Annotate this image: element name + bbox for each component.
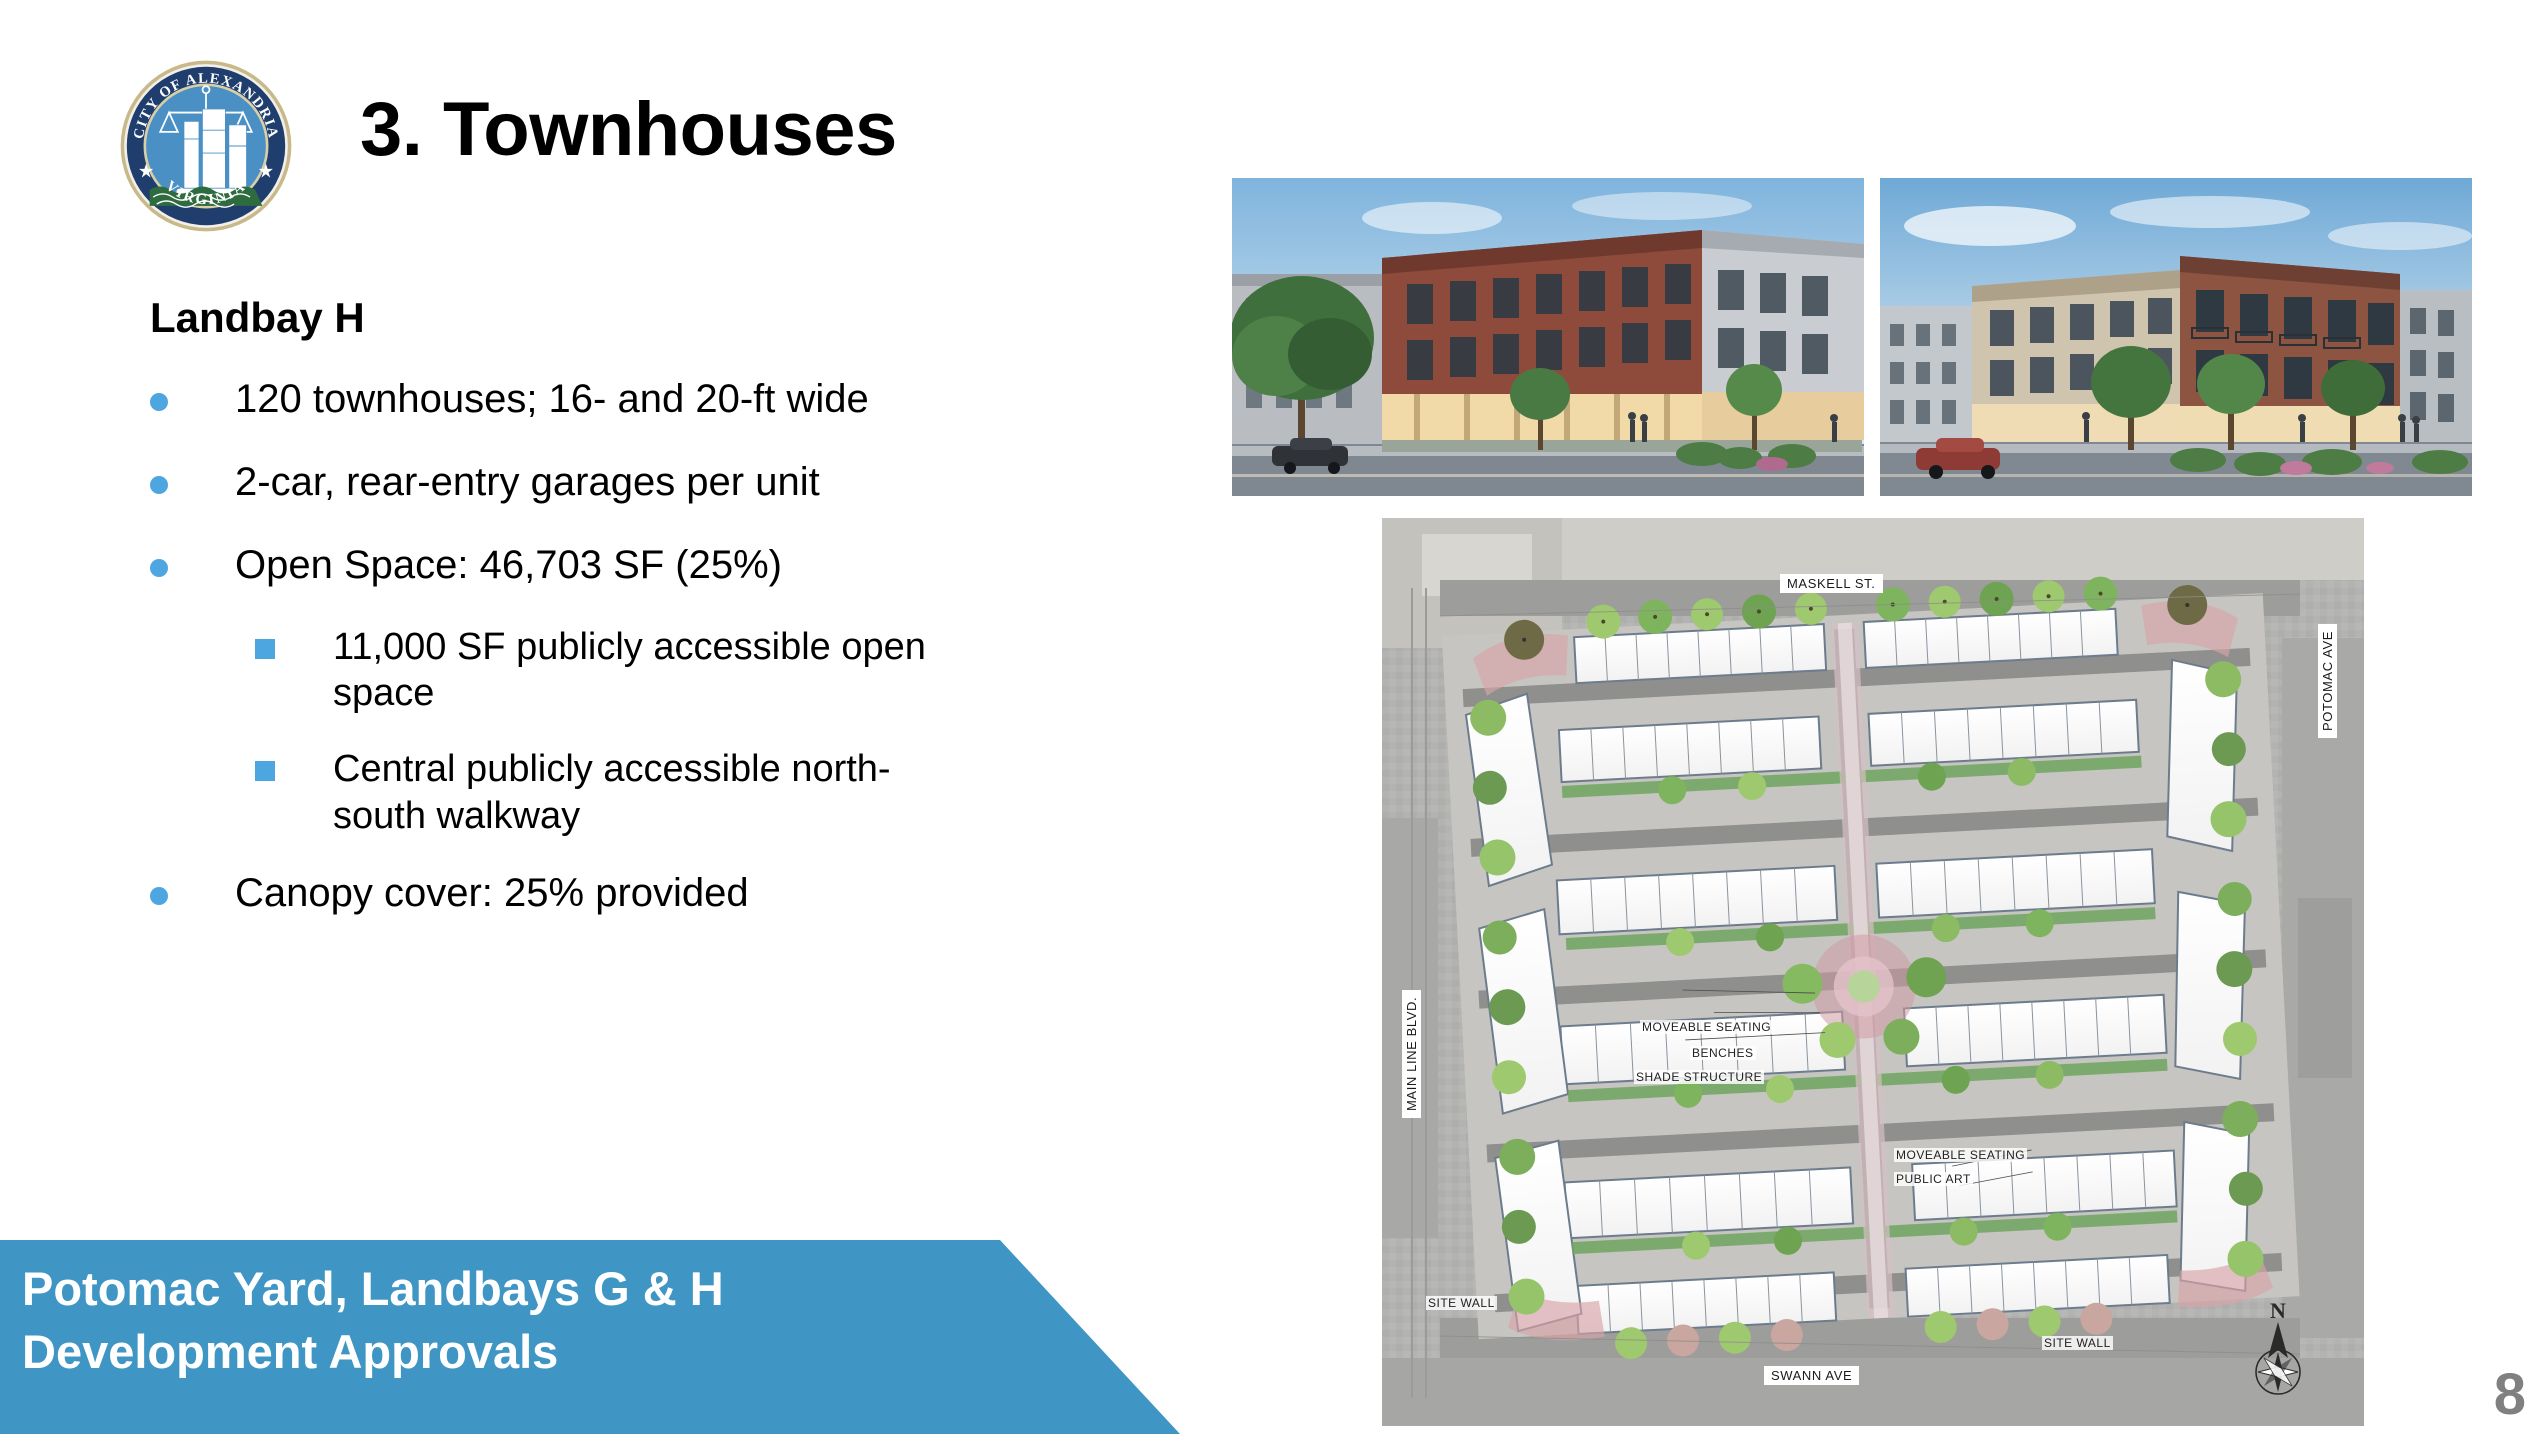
annotation-benches: BENCHES — [1690, 1046, 1756, 1060]
bullet-text: Canopy cover: 25% provided — [235, 869, 749, 918]
bullet-dot-icon — [150, 476, 168, 494]
bullet-text: 120 townhouses; 16- and 20-ft wide — [235, 375, 869, 424]
bullet-dot-icon — [150, 887, 168, 905]
bullet-text: 2-car, rear-entry garages per unit — [235, 458, 820, 507]
bullet-text: 11,000 SF publicly accessible open space — [333, 624, 973, 717]
list-item: 120 townhouses; 16- and 20-ft wide — [150, 375, 1220, 424]
compass-north-letter: N — [2270, 1298, 2286, 1323]
footer-banner-line1: Potomac Yard, Landbays G & H — [22, 1258, 724, 1321]
landbay-h-site-plan: MASKELL ST. SWANN AVE MAIN LINE BLVD. PO… — [1382, 518, 2364, 1426]
page-number: 8 — [2494, 1361, 2526, 1428]
list-item: 2-car, rear-entry garages per unit — [150, 458, 1220, 507]
list-item-sub: Central publicly accessible north-south … — [150, 746, 1220, 839]
bullet-square-icon — [255, 639, 275, 659]
bullet-square-icon — [255, 761, 275, 781]
street-label-main-line: MAIN LINE BLVD. — [1402, 990, 1421, 1118]
street-label-potomac: POTOMAC AVE — [2318, 624, 2337, 738]
bullet-dot-icon — [150, 559, 168, 577]
townhouse-rendering-left — [1232, 178, 1864, 496]
page-title: 3. Townhouses — [360, 92, 897, 168]
list-item: Open Space: 46,703 SF (25%) — [150, 541, 1220, 590]
content-body: Landbay H 120 townhouses; 16- and 20-ft … — [150, 295, 1220, 952]
list-item-sub: 11,000 SF publicly accessible open space — [150, 624, 1220, 717]
annotation-shade-structure: SHADE STRUCTURE — [1634, 1070, 1764, 1084]
annotation-site-wall-right: SITE WALL — [2042, 1336, 2113, 1350]
north-compass-icon: N — [2232, 1296, 2324, 1406]
street-label-swann: SWANN AVE — [1764, 1366, 1859, 1385]
bullet-text: Central publicly accessible north-south … — [333, 746, 943, 839]
footer-banner-text: Potomac Yard, Landbays G & H Development… — [22, 1258, 724, 1383]
annotation-public-art: PUBLIC ART — [1894, 1172, 1973, 1186]
footer-banner: Potomac Yard, Landbays G & H Development… — [0, 1240, 1180, 1434]
bullet-text: Open Space: 46,703 SF (25%) — [235, 541, 782, 590]
annotation-moveable-seating-south: MOVEABLE SEATING — [1894, 1148, 2027, 1162]
footer-banner-line2: Development Approvals — [22, 1321, 724, 1384]
list-item: Canopy cover: 25% provided — [150, 869, 1220, 918]
bullet-dot-icon — [150, 393, 168, 411]
city-of-alexandria-seal: CITY OF ALEXANDRIA VIRGINIA — [118, 58, 294, 234]
townhouse-rendering-right — [1880, 178, 2472, 496]
annotation-moveable-seating-north: MOVEABLE SEATING — [1640, 1020, 1773, 1034]
street-label-maskell: MASKELL ST. — [1780, 574, 1883, 593]
annotation-site-wall-left: SITE WALL — [1426, 1296, 1497, 1310]
section-subheading: Landbay H — [150, 295, 1220, 341]
